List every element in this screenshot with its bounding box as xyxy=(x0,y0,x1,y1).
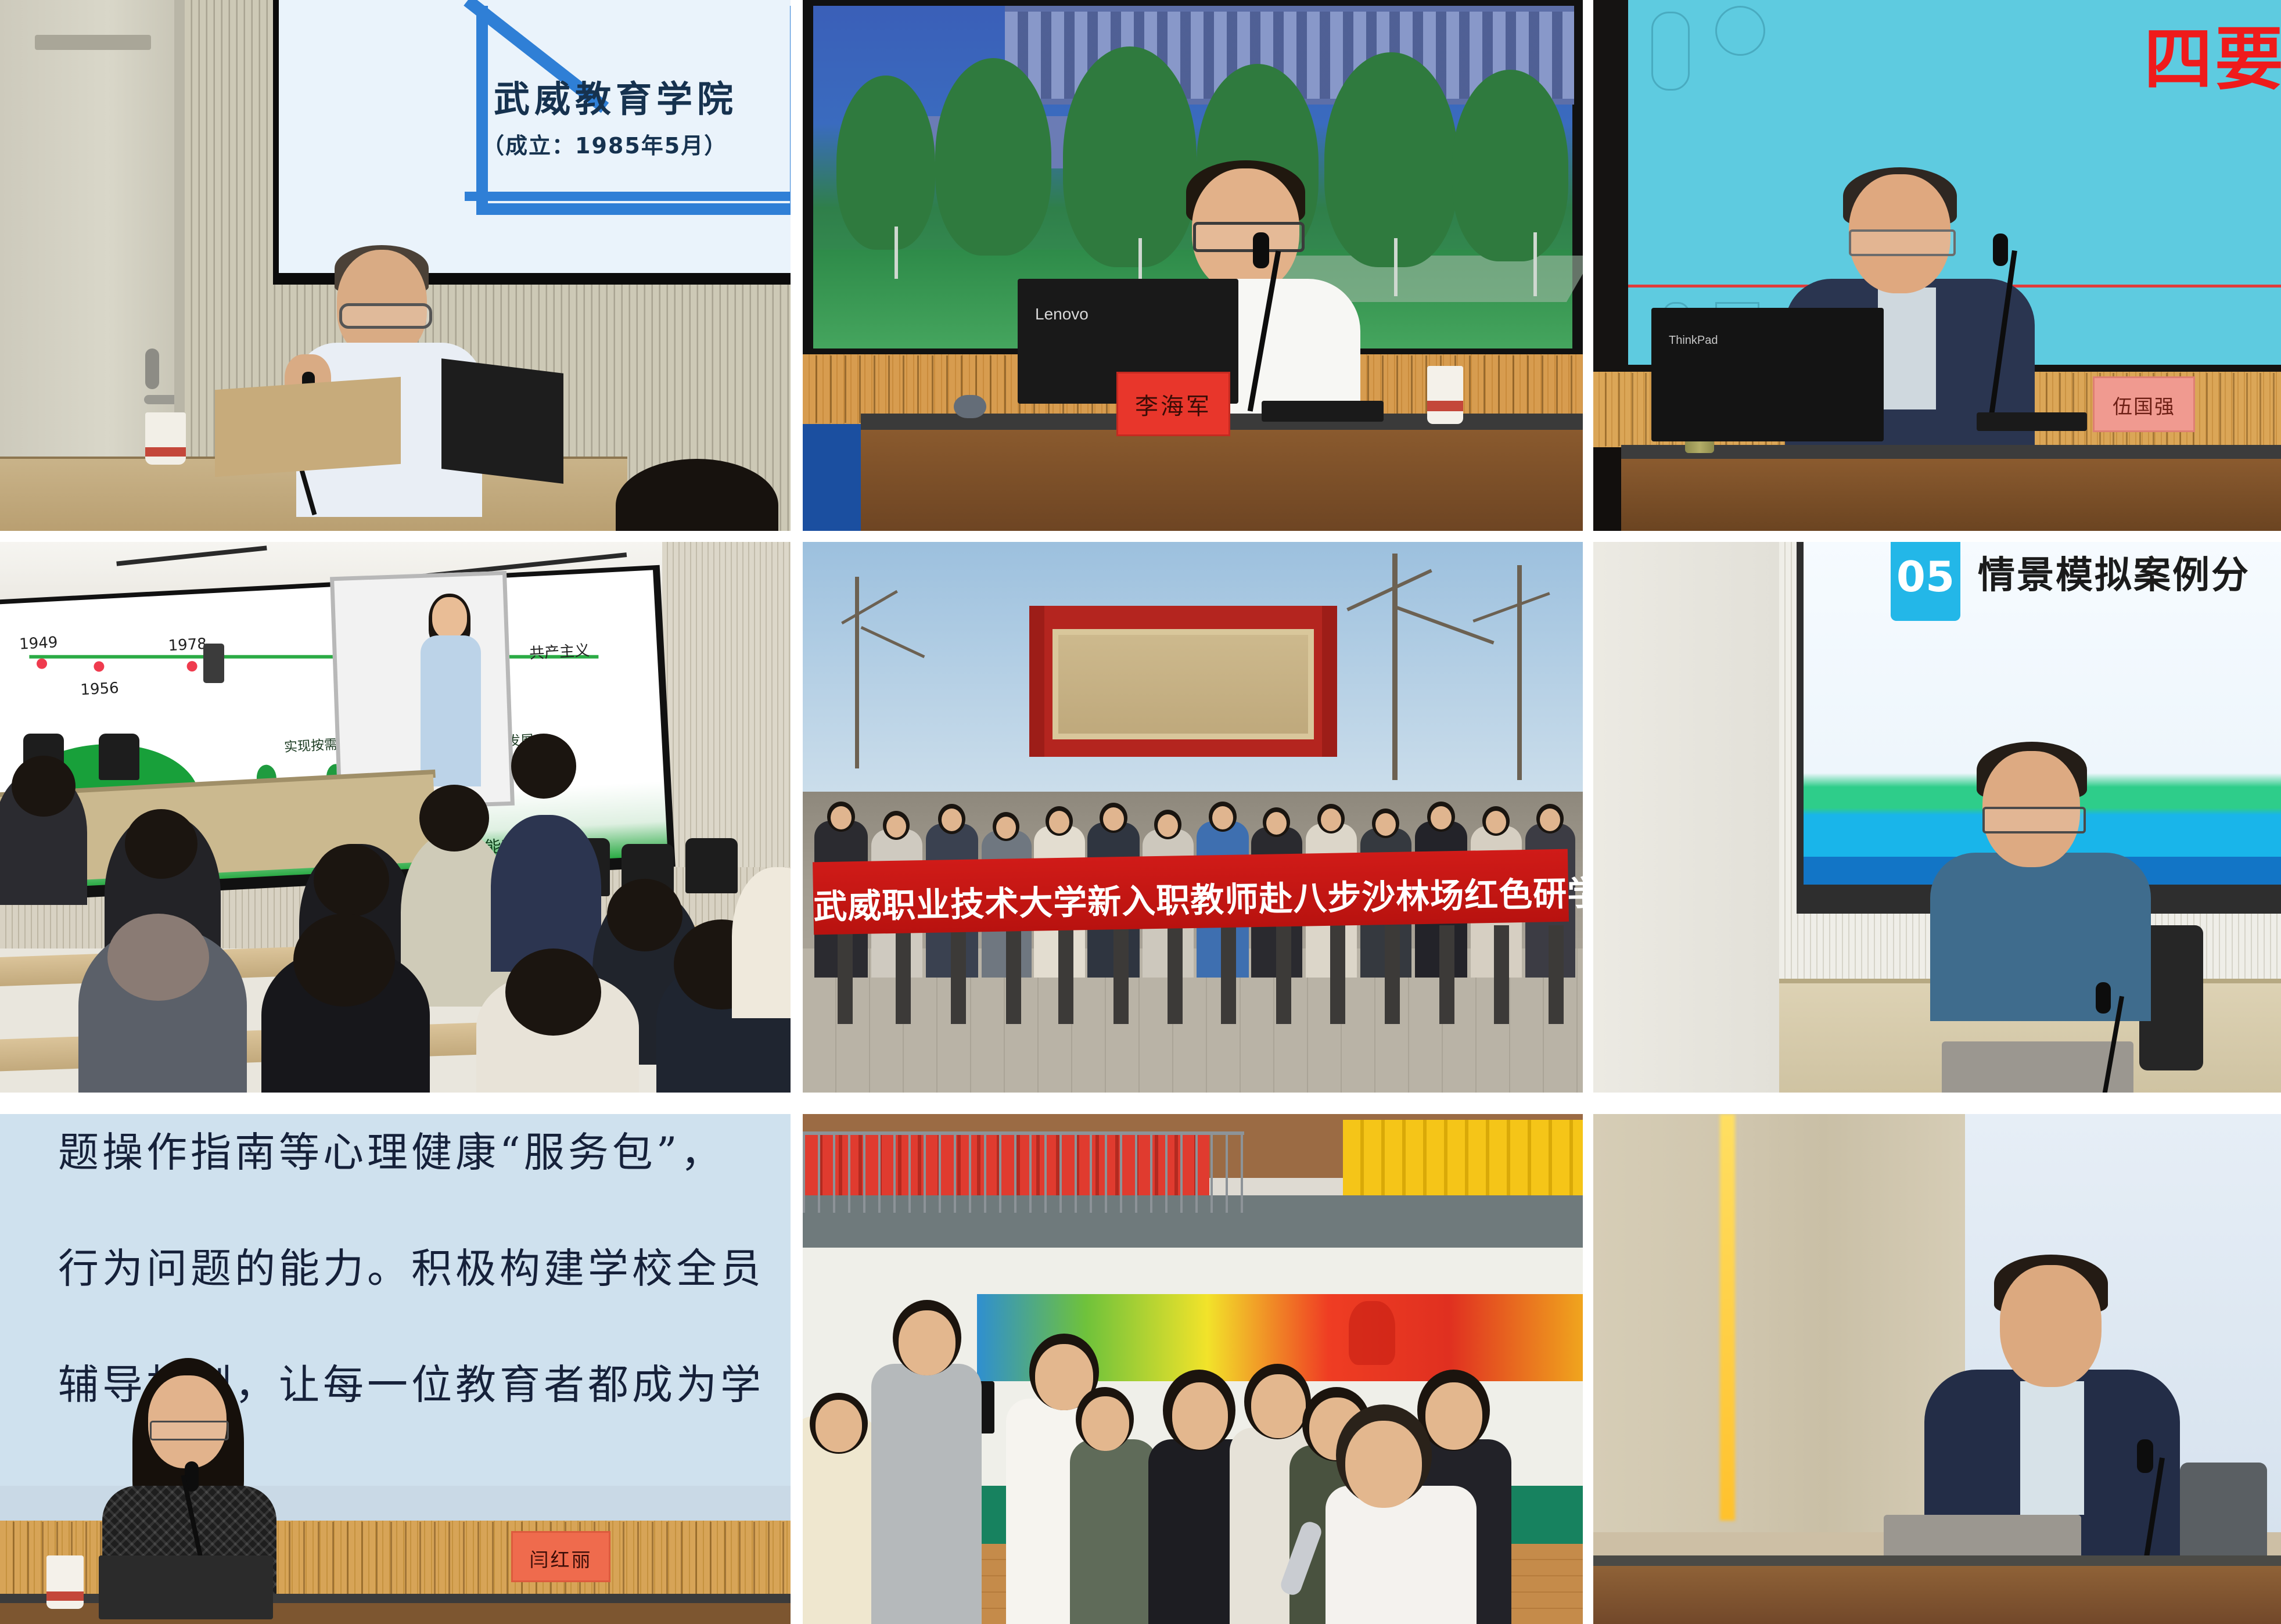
person-legs xyxy=(896,925,911,1024)
desk-front xyxy=(1621,459,2281,531)
tree-trunk xyxy=(1394,238,1398,296)
person-legs xyxy=(951,925,966,1024)
audience-person xyxy=(491,815,601,972)
person-legs xyxy=(1168,925,1183,1024)
paper-cup-band xyxy=(145,447,186,457)
person-face xyxy=(1431,806,1452,829)
tree xyxy=(836,76,935,250)
section-number: 05 xyxy=(1891,552,1960,601)
person-face xyxy=(1172,1382,1228,1450)
person-face xyxy=(899,1310,955,1375)
photo-panel-5[interactable]: 武威职业技术大学新入职教师赴八步沙林场红色研学活动 xyxy=(803,542,1583,1093)
microphone-base xyxy=(1977,412,2087,431)
wall-light-strip xyxy=(1720,1114,1735,1521)
audience-head xyxy=(125,809,197,879)
timeline-label-1949: 1949 xyxy=(19,634,58,653)
tree xyxy=(1452,70,1568,261)
sketch-shape xyxy=(1715,6,1765,56)
dress-shirt xyxy=(2020,1381,2084,1515)
head xyxy=(2000,1265,2102,1387)
desk-front xyxy=(1593,1566,2281,1624)
photo-panel-3[interactable]: 四要 ThinkPad 伍国强 xyxy=(1593,0,2281,531)
person-face xyxy=(1425,1382,1482,1450)
name-card-text: 李海军 xyxy=(1118,387,1228,421)
person-face xyxy=(1049,811,1069,833)
person-face xyxy=(1321,809,1341,831)
person-face xyxy=(1082,1396,1129,1451)
person xyxy=(871,1364,982,1624)
audience-head xyxy=(293,914,395,1007)
name-card-text: 伍国强 xyxy=(2095,391,2193,419)
name-card-text: 闫红丽 xyxy=(513,1544,609,1572)
speaker-person xyxy=(1919,751,2163,989)
chair-back xyxy=(685,838,738,893)
projector-screen: 武威教育学院 （成立：1985年5月） xyxy=(273,0,791,285)
photo-panel-8[interactable]: 88:88 xyxy=(803,1114,1583,1624)
paper-cup xyxy=(1427,366,1463,424)
laptop-brand-label: ThinkPad xyxy=(1669,334,1718,347)
person-face xyxy=(1251,1374,1306,1438)
person-legs xyxy=(1276,925,1291,1024)
person-legs xyxy=(838,925,853,1024)
monument-column xyxy=(1029,606,1044,757)
person-face xyxy=(1266,812,1287,835)
person-legs xyxy=(1058,925,1073,1024)
person-legs xyxy=(1385,925,1400,1024)
person-legs xyxy=(1494,925,1509,1024)
microphone-head xyxy=(2137,1439,2153,1473)
railing xyxy=(803,1131,1244,1213)
torso-polo-shirt xyxy=(1930,853,2151,1021)
speaker-face xyxy=(1345,1421,1422,1508)
computer-mouse xyxy=(954,395,986,418)
photo-panel-9[interactable]: 张东 xyxy=(1593,1114,2281,1624)
desk-front xyxy=(861,430,1583,531)
tree-trunk xyxy=(1533,232,1537,296)
speaker-person: 张东 xyxy=(1924,1265,2192,1555)
slide-subtitle: （成立：1985年5月） xyxy=(482,128,727,160)
person-face xyxy=(942,809,962,831)
person-face xyxy=(1212,806,1233,829)
name-card: 伍国强 xyxy=(2093,376,2195,432)
person-legs xyxy=(1439,925,1454,1024)
person-legs xyxy=(1113,925,1129,1024)
event-banner-text: 武威职业技术大学新入职教师赴八步沙林场红色研学活动 xyxy=(813,867,1569,929)
audience-head xyxy=(314,844,389,917)
head xyxy=(432,597,467,639)
door-lock xyxy=(145,348,159,389)
person-face xyxy=(1486,811,1506,833)
timeline-axis xyxy=(29,655,598,659)
house-base-shape xyxy=(465,192,790,201)
tree-branch xyxy=(855,577,859,768)
dress-shirt xyxy=(1878,288,1936,409)
instructor-person xyxy=(416,597,486,789)
person-face xyxy=(1158,814,1178,837)
name-card: 李海军 xyxy=(1116,372,1230,436)
person xyxy=(1070,1439,1157,1624)
microphone-head xyxy=(1993,233,2008,266)
desk-top-edge xyxy=(1621,445,2281,460)
timeline-label-communism: 共产主义 xyxy=(529,638,590,663)
laptop-brand-label: Lenovo xyxy=(1035,305,1089,324)
slide-heading: 情景模拟案例分 xyxy=(1978,545,2250,599)
speaker-person xyxy=(1326,1486,1477,1624)
person-face xyxy=(816,1400,862,1452)
person-face xyxy=(831,806,852,829)
audience-head xyxy=(505,948,601,1036)
photo-panel-2[interactable]: Lenovo 李海军 xyxy=(803,0,1583,531)
left-wall xyxy=(1593,542,1779,1093)
timeline-label-1978: 1978 xyxy=(168,635,207,655)
monument-column xyxy=(1322,606,1337,757)
glasses-icon xyxy=(1982,807,2086,833)
microphone-head xyxy=(1253,232,1269,268)
slide-title: 武威教育学院 xyxy=(494,70,738,122)
glasses-icon xyxy=(339,303,432,329)
glasses-icon xyxy=(150,1421,229,1440)
timeline-dot xyxy=(94,661,105,672)
timeline-dot xyxy=(37,658,48,669)
section-number-badge: 05 xyxy=(1891,542,1960,621)
photo-panel-7[interactable]: 题操作指南等心理健康“服务包”， 行为问题的能力。积极构建学校全员 辅导机制，让… xyxy=(0,1114,791,1624)
door-push-plate xyxy=(35,35,151,50)
name-card: 闫红丽 xyxy=(511,1531,610,1582)
open-folder xyxy=(215,377,401,477)
microphone-base xyxy=(1262,401,1384,422)
sketch-shape xyxy=(1651,12,1690,91)
person-face xyxy=(1540,809,1560,831)
timeline-dot xyxy=(186,661,197,672)
laptop-lid xyxy=(441,358,563,484)
glasses-icon xyxy=(1849,229,1956,256)
photo-panel-6[interactable]: 05 情景模拟案例分 xyxy=(1593,542,2281,1093)
audience-head xyxy=(419,785,489,851)
wall-speaker xyxy=(203,644,224,683)
monument-mural xyxy=(1058,635,1308,734)
horse-emblem-icon xyxy=(1349,1301,1395,1365)
photo-panel-4[interactable]: 1949 1956 1978 现在 共产主义 共产主义社会 实现按需分配 每个人… xyxy=(0,542,791,1093)
tree xyxy=(935,58,1051,256)
person-legs xyxy=(1221,925,1236,1024)
chair-back xyxy=(99,734,139,780)
laptop xyxy=(1651,308,1884,441)
person-face xyxy=(886,815,906,838)
tree-branch xyxy=(1517,565,1522,780)
tree-trunk xyxy=(895,227,898,279)
timeline-label-1956: 1956 xyxy=(80,680,120,699)
event-banner: 武威职业技术大学新入职教师赴八步沙林场红色研学活动 xyxy=(813,849,1569,935)
paper-cup xyxy=(145,412,186,465)
person-legs xyxy=(1006,925,1021,1024)
laptop xyxy=(99,1555,273,1619)
person-face xyxy=(1103,807,1124,831)
torso-coat xyxy=(421,635,481,786)
slide-line-2: 行为问题的能力。积极构建学校全员 xyxy=(58,1236,764,1295)
slide-heading: 四要 xyxy=(2144,3,2281,103)
audience-head xyxy=(12,756,76,817)
photo-collage: 武威教育学院 （成立：1985年5月） xyxy=(0,0,2281,1624)
person-face xyxy=(996,817,1016,839)
microphone-head xyxy=(2096,982,2111,1014)
audience-head xyxy=(107,914,209,1001)
glasses-icon xyxy=(1193,222,1305,252)
audience-head xyxy=(607,879,682,951)
paper-cup-band xyxy=(46,1591,84,1601)
person-legs xyxy=(1330,925,1345,1024)
photo-panel-1[interactable]: 武威教育学院 （成立：1985年5月） xyxy=(0,0,791,531)
person-legs xyxy=(1549,925,1564,1024)
slide-surface: 武威教育学院 （成立：1985年5月） xyxy=(279,0,791,273)
audience-head xyxy=(511,734,576,799)
slide-line-1: 题操作指南等心理健康“服务包”， xyxy=(58,1120,725,1179)
paper-cup xyxy=(46,1555,84,1609)
person-face xyxy=(1375,813,1396,836)
paper-cup-band xyxy=(1427,401,1463,411)
